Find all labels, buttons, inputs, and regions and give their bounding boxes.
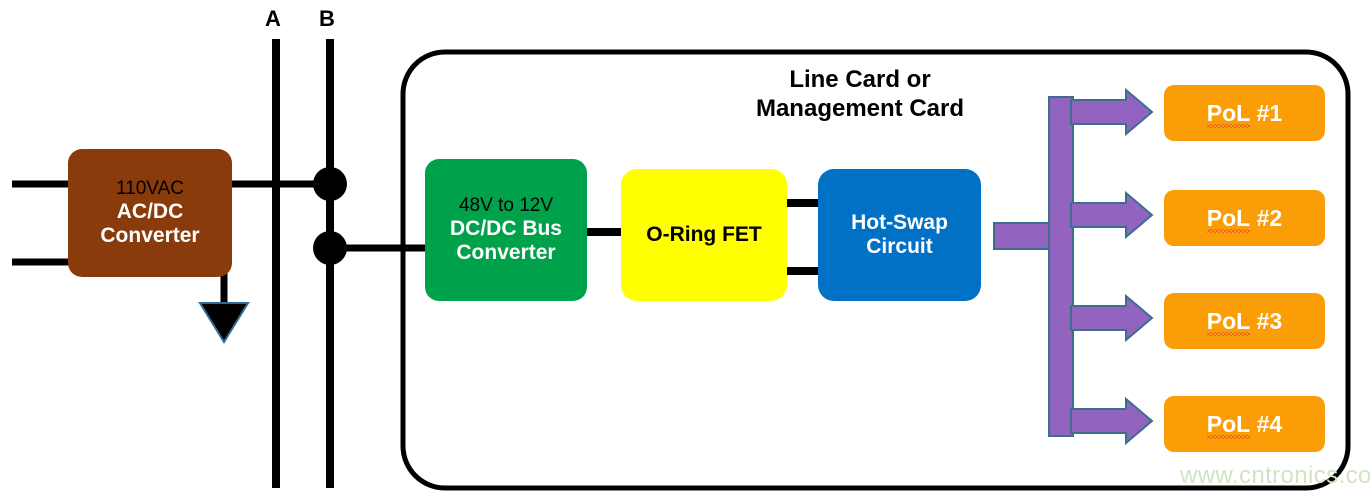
line-card-title-line2: Management Card (660, 94, 1060, 123)
bus-label-b: B (319, 6, 335, 32)
junction-dot-upper (313, 167, 347, 201)
purple-trunk-bus (1049, 97, 1073, 436)
pol-label-3: PoL #3 (1207, 308, 1282, 334)
acdc-converter-block[interactable]: 110VAC AC/DC Converter (68, 149, 232, 277)
arrow-right-icon-pol-4 (1071, 399, 1152, 443)
acdc-input-voltage-label: 110VAC (116, 178, 184, 200)
pol-label-2: PoL #2 (1207, 205, 1282, 231)
pol-label-1: PoL #1 (1207, 100, 1282, 126)
oring-fet-block[interactable]: O-Ring FET (621, 169, 787, 301)
pol-block-1[interactable]: PoL #1 (1164, 85, 1325, 141)
pol-word-2: PoL (1207, 205, 1250, 231)
oring-title: O-Ring FET (646, 223, 761, 247)
arrow-right-icon-pol-2 (1071, 193, 1152, 237)
arrow-right-icon-pol-3 (1071, 296, 1152, 340)
acdc-title-line1: AC/DC (117, 200, 184, 224)
pol-word-4: PoL (1207, 411, 1250, 437)
pol-block-2[interactable]: PoL #2 (1164, 190, 1325, 246)
pol-block-4[interactable]: PoL #4 (1164, 396, 1325, 452)
pol-word-1: PoL (1207, 100, 1250, 126)
diagram-canvas: A B Line Card or Management Card 110VAC … (0, 0, 1370, 495)
watermark: www.cntronics.com (1180, 462, 1370, 490)
purple-input-stub (994, 223, 1052, 249)
pol-block-3[interactable]: PoL #3 (1164, 293, 1325, 349)
line-card-title-line1: Line Card or (660, 65, 1060, 94)
pol-number-1: #1 (1250, 100, 1282, 126)
hotswap-title-line2: Circuit (866, 235, 933, 259)
arrow-right-icon-pol-1 (1071, 90, 1152, 134)
dcdc-bus-converter-block[interactable]: 48V to 12V DC/DC Bus Converter (425, 159, 587, 301)
line-card-title: Line Card or Management Card (660, 65, 1060, 124)
pol-number-3: #3 (1250, 308, 1282, 334)
pol-number-4: #4 (1250, 411, 1282, 437)
bus-label-a: A (265, 6, 281, 32)
hotswap-title-line1: Hot-Swap (851, 211, 948, 235)
acdc-title-line2: Converter (100, 224, 199, 248)
pol-number-2: #2 (1250, 205, 1282, 231)
dcdc-voltage-label: 48V to 12V (459, 195, 553, 217)
dcdc-title-line2: Converter (456, 241, 555, 265)
pol-word-3: PoL (1207, 308, 1250, 334)
dcdc-title-line1: DC/DC Bus (450, 217, 562, 241)
pol-label-4: PoL #4 (1207, 411, 1282, 437)
ground-triangle-icon (200, 303, 248, 342)
hot-swap-circuit-block[interactable]: Hot-Swap Circuit (818, 169, 981, 301)
